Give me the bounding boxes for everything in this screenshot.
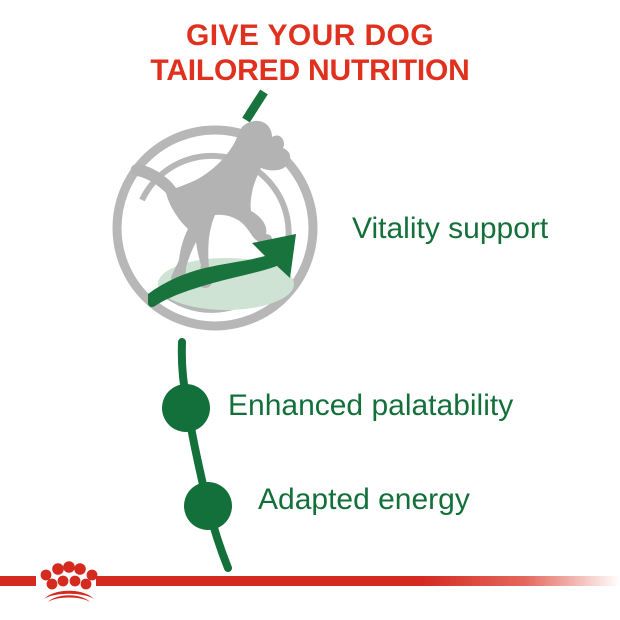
jumping-dog-in-circle-icon xyxy=(100,82,340,342)
crown-dot-top-5 xyxy=(87,570,98,581)
footer-brand-band xyxy=(0,540,620,620)
crown-base-arc-inner xyxy=(48,595,90,602)
page-title: GIVE YOUR DOG TAILORED NUTRITION xyxy=(0,18,620,88)
crown-dot-bottom-4 xyxy=(81,579,92,590)
footer-bar-left xyxy=(0,576,36,586)
benefit-label-vitality-support: Vitality support xyxy=(352,212,548,246)
crown-dot-bottom-2 xyxy=(58,576,69,587)
footer-bar-right xyxy=(96,576,620,586)
connector-node-1 xyxy=(162,384,210,432)
crown-dot-top-2 xyxy=(52,563,64,575)
crown-dot-top-1 xyxy=(41,570,52,581)
connector-node-2 xyxy=(184,482,232,530)
benefit-label-adapted-energy: Adapted energy xyxy=(258,483,470,517)
headline-line-1: GIVE YOUR DOG xyxy=(0,18,620,53)
royal-canin-crown-logo xyxy=(38,558,100,604)
crown-dot-bottom-1 xyxy=(47,579,58,590)
connector-line xyxy=(182,342,228,568)
green-accent-dash-icon xyxy=(246,92,264,120)
benefit-label-enhanced-palatability: Enhanced palatability xyxy=(228,389,513,423)
crown-base-arc xyxy=(44,591,94,599)
crown-dot-top-3 xyxy=(63,561,75,573)
product-feature-panel: GIVE YOUR DOG TAILORED NUTRITION xyxy=(0,0,620,620)
crown-dot-top-4 xyxy=(74,563,86,575)
crown-dot-bottom-3 xyxy=(70,576,81,587)
